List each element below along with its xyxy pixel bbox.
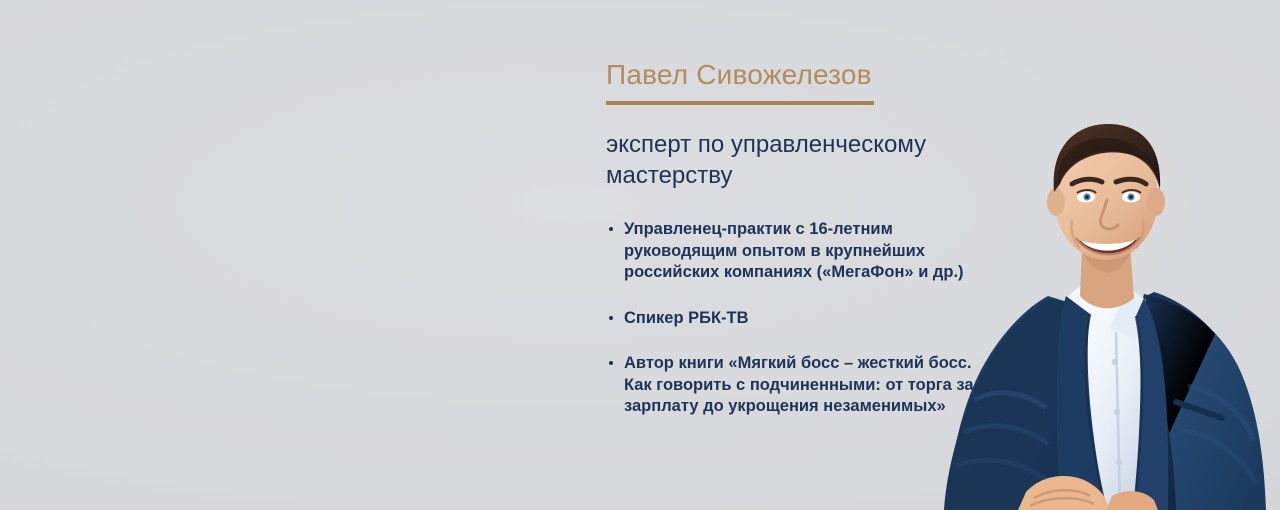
list-item: Управленец-практик с 16-летним руководящ… <box>606 219 974 284</box>
list-item: Автор книги «Мягкий босс – жесткий босс.… <box>606 353 974 418</box>
name-underline-rule <box>606 101 874 105</box>
pupil-left <box>1085 195 1088 198</box>
portrait-illustration <box>930 100 1280 510</box>
bullet-dot-icon <box>609 316 613 320</box>
speaker-portrait-photo <box>930 100 1280 510</box>
bullet-dot-icon <box>609 361 613 365</box>
shirt-button <box>1116 459 1122 465</box>
speaker-name: Павел Сивожелезов <box>606 58 1006 92</box>
fact-text: Управленец-практик с 16-летним руководящ… <box>624 220 964 281</box>
bullet-dot-icon <box>609 227 613 231</box>
shirt-button <box>1114 409 1120 415</box>
ear-right <box>1147 188 1165 216</box>
fact-text: Спикер РБК-ТВ <box>624 309 749 327</box>
speaker-role: эксперт по управленческому мастерству <box>606 129 951 191</box>
speaker-slide: Павел Сивожелезов эксперт по управленчес… <box>0 0 1280 510</box>
fact-text: Автор книги «Мягкий босс – жесткий босс.… <box>624 354 974 415</box>
ear-left <box>1047 188 1065 216</box>
pupil-right <box>1129 195 1132 198</box>
list-item: Спикер РБК-ТВ <box>606 308 974 330</box>
shirt-button <box>1112 359 1118 365</box>
